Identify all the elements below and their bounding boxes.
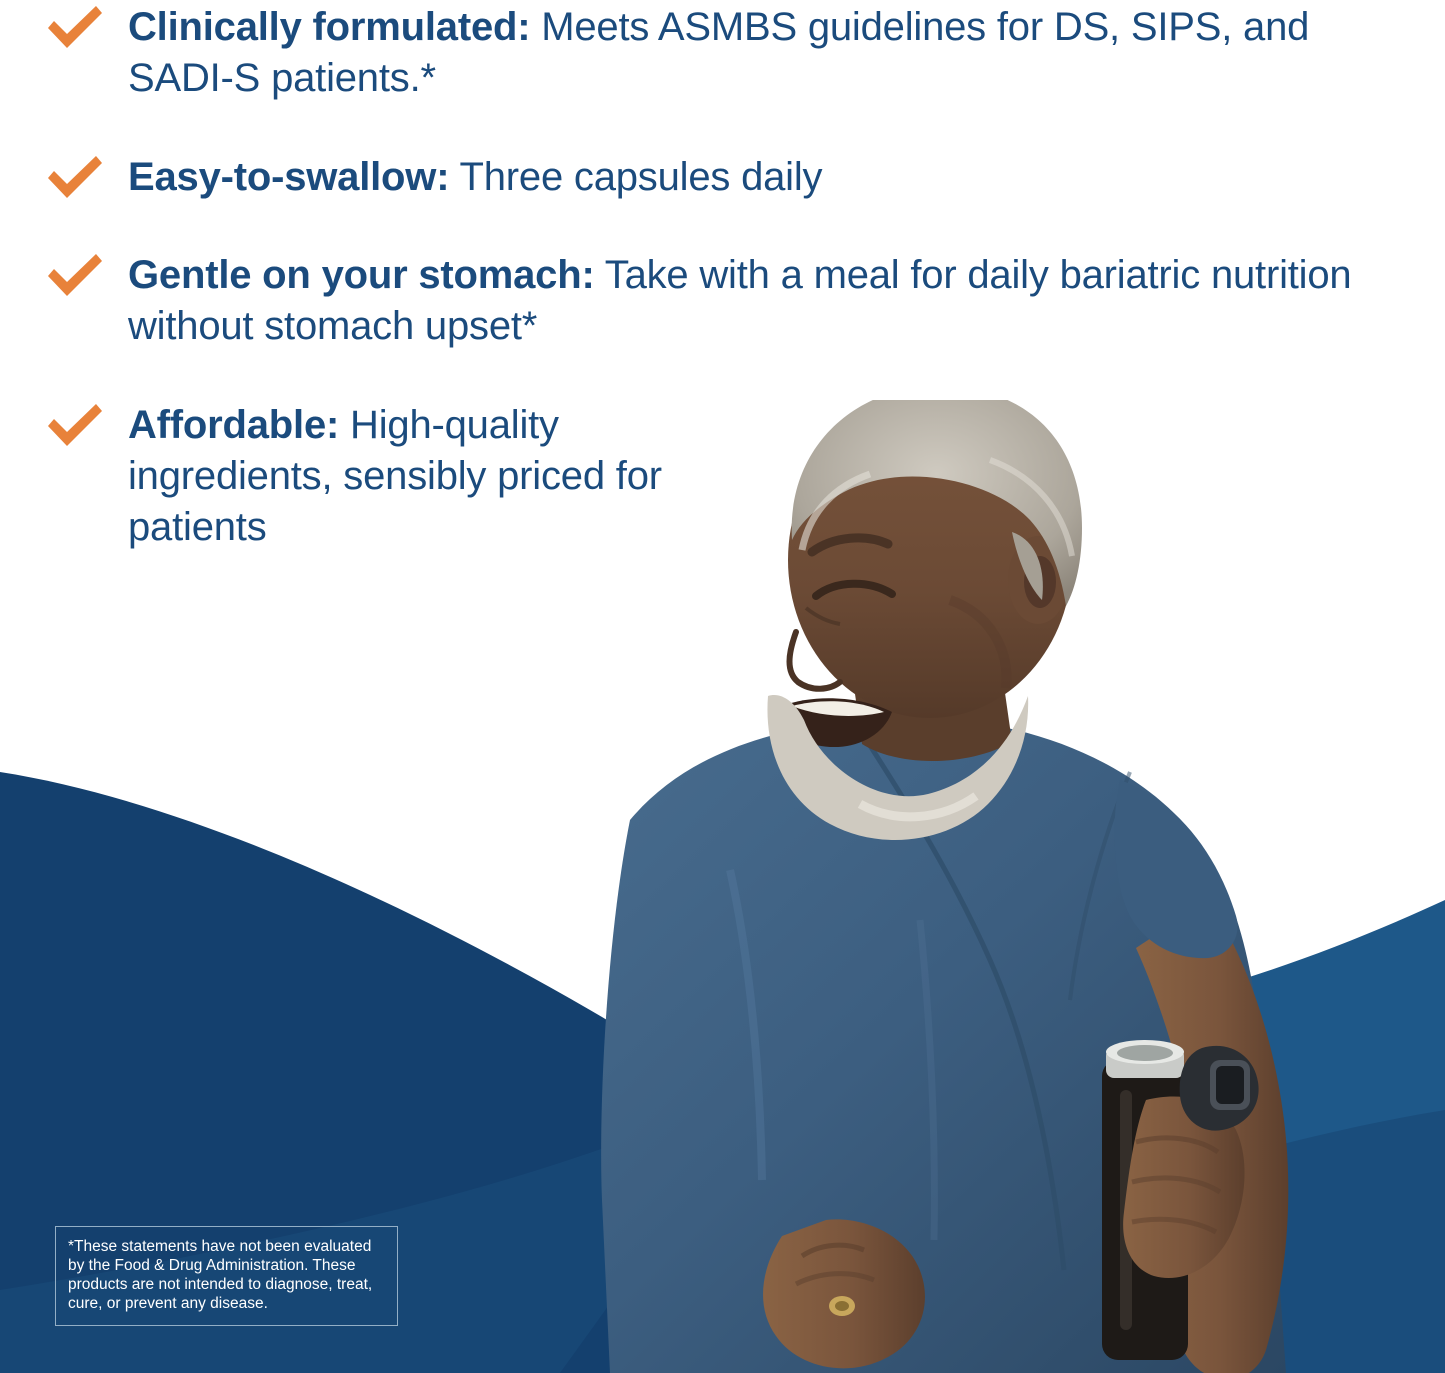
list-item-text: Gentle on your stomach: Take with a meal… xyxy=(128,250,1360,352)
list-item-body: Three capsules daily xyxy=(449,155,822,199)
fda-disclaimer-text: *These statements have not been evaluate… xyxy=(68,1238,372,1312)
list-item-lead: Clinically formulated: xyxy=(128,5,530,49)
promo-banner: Clinically formulated: Meets ASMBS guide… xyxy=(0,0,1445,1373)
list-item-text: Affordable: High-quality ingredients, se… xyxy=(128,400,728,553)
list-item-lead: Gentle on your stomach: xyxy=(128,253,595,297)
list-item-lead: Affordable: xyxy=(128,403,339,447)
list-item: Affordable: High-quality ingredients, se… xyxy=(44,400,728,553)
check-icon xyxy=(44,154,106,202)
check-icon xyxy=(44,252,106,300)
list-item: Clinically formulated: Meets ASMBS guide… xyxy=(44,2,1360,104)
list-item-text: Clinically formulated: Meets ASMBS guide… xyxy=(128,2,1360,104)
list-item-lead: Easy-to-swallow: xyxy=(128,155,449,199)
list-item: Easy-to-swallow: Three capsules daily xyxy=(44,152,822,203)
list-item: Gentle on your stomach: Take with a meal… xyxy=(44,250,1360,352)
check-icon xyxy=(44,4,106,52)
list-item-text: Easy-to-swallow: Three capsules daily xyxy=(128,152,822,203)
fda-disclaimer: *These statements have not been evaluate… xyxy=(55,1226,398,1326)
check-icon xyxy=(44,402,106,450)
